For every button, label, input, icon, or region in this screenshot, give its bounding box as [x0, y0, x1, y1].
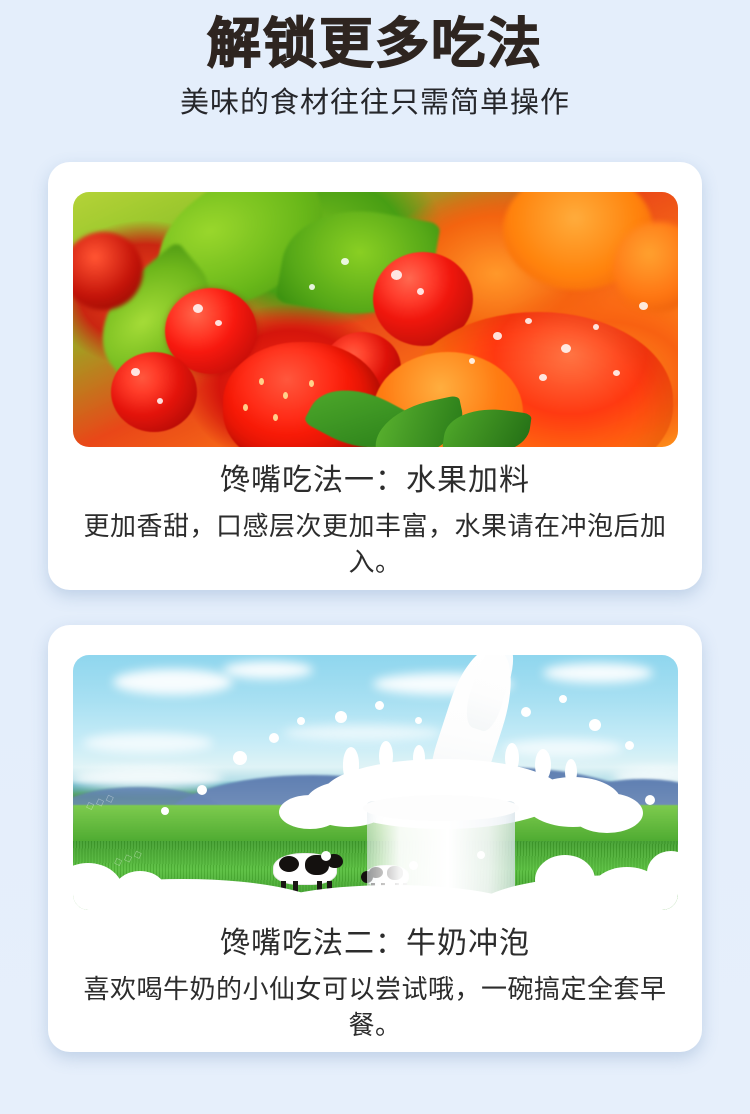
- milk-card-text: 馋嘴吃法二：牛奶冲泡 喜欢喝牛奶的小仙女可以尝试哦，一碗搞定全套早餐。: [48, 923, 702, 1043]
- milk-photo-illustration: ◇◇◇ ◇◇◇: [73, 655, 678, 910]
- fruit-card-text: 馋嘴吃法一：水果加料 更加香甜，口感层次更加丰富，水果请在冲泡后加入。: [48, 460, 702, 580]
- tip-card-milk[interactable]: ◇◇◇ ◇◇◇ 馋嘴吃法二：牛奶冲泡 喜欢喝牛奶的小仙女可以尝试哦，一碗搞定全套…: [48, 625, 702, 1052]
- card-description: 更加香甜，口感层次更加丰富，水果请在冲泡后加入。: [62, 508, 688, 580]
- page-title: 解锁更多吃法: [0, 12, 750, 76]
- page-subtitle: 美味的食材往往只需简单操作: [0, 84, 750, 122]
- fruit-photo-illustration: [73, 192, 678, 447]
- milk-image: ◇◇◇ ◇◇◇: [73, 655, 678, 910]
- fruit-image: [73, 192, 678, 447]
- card-heading: 馋嘴吃法二：牛奶冲泡: [62, 923, 688, 965]
- page-header: 解锁更多吃法 美味的食材往往只需简单操作: [0, 0, 750, 122]
- card-heading: 馋嘴吃法一：水果加料: [62, 460, 688, 502]
- tip-card-fruit[interactable]: 馋嘴吃法一：水果加料 更加香甜，口感层次更加丰富，水果请在冲泡后加入。: [48, 162, 702, 590]
- card-description: 喜欢喝牛奶的小仙女可以尝试哦，一碗搞定全套早餐。: [62, 971, 688, 1043]
- promo-page: 解锁更多吃法 美味的食材往往只需简单操作: [0, 0, 750, 1114]
